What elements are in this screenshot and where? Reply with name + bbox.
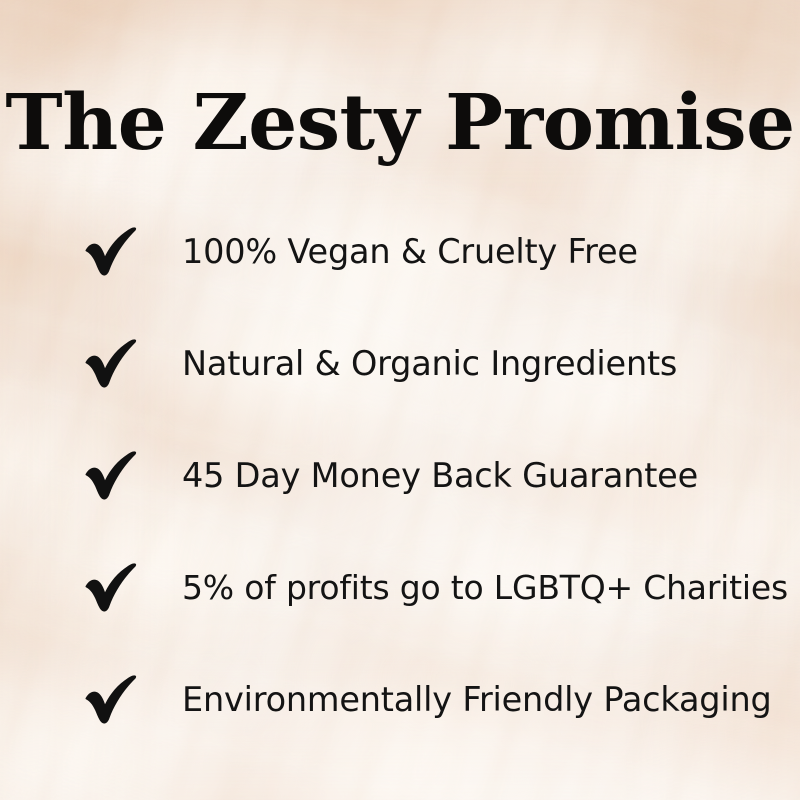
promise-label: Environmentally Friendly Packaging: [182, 682, 772, 717]
list-item: 45 Day Money Back Guarantee: [0, 420, 800, 532]
checkmark-icon: [84, 451, 140, 501]
checkmark-icon: [84, 227, 140, 277]
checkmark-icon: [84, 339, 140, 389]
list-item: 5% of profits go to LGBTQ+ Charities: [0, 532, 800, 644]
checkmark-icon: [84, 675, 140, 725]
list-item: Natural & Organic Ingredients: [0, 308, 800, 420]
promise-list: 100% Vegan & Cruelty Free Natural & Orga…: [0, 196, 800, 756]
list-item: 100% Vegan & Cruelty Free: [0, 196, 800, 308]
promise-label: 5% of profits go to LGBTQ+ Charities: [182, 571, 788, 606]
card-content: The Zesty Promise 100% Vegan & Cruelty F…: [0, 0, 800, 800]
promise-label: Natural & Organic Ingredients: [182, 346, 677, 381]
page-title: The Zesty Promise: [0, 85, 800, 162]
checkmark-icon: [84, 563, 140, 613]
list-item: Environmentally Friendly Packaging: [0, 644, 800, 756]
promise-label: 100% Vegan & Cruelty Free: [182, 234, 638, 269]
zesty-promise-card: The Zesty Promise 100% Vegan & Cruelty F…: [0, 0, 800, 800]
promise-label: 45 Day Money Back Guarantee: [182, 458, 698, 493]
